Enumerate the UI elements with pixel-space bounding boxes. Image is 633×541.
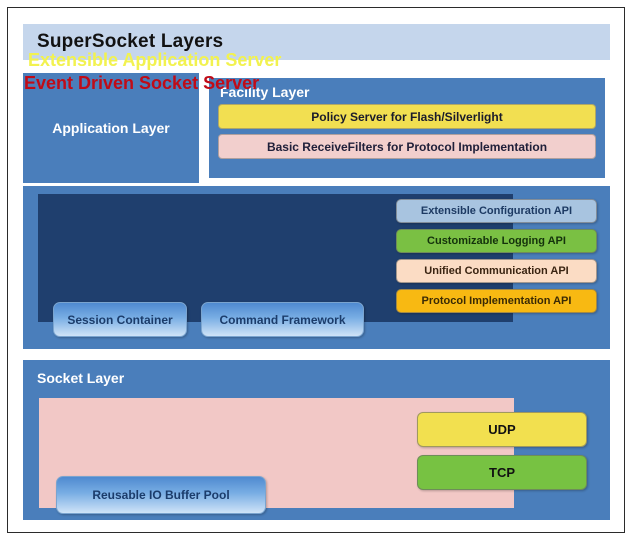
button-reusable-io-buffer-pool[interactable]: Reusable IO Buffer Pool: [56, 476, 266, 514]
api-customizable-logging[interactable]: Customizable Logging API: [396, 229, 597, 253]
api-extensible-configuration[interactable]: Extensible Configuration API: [396, 199, 597, 223]
protocol-chip-tcp[interactable]: TCP: [417, 455, 587, 490]
facility-layer-inner: Facility Layer Policy Server for Flash/S…: [209, 78, 605, 178]
facility-layer-title: Facility Layer: [220, 84, 596, 100]
application-layer-label: Application Layer: [52, 120, 169, 136]
api-unified-communication[interactable]: Unified Communication API: [396, 259, 597, 283]
api-protocol-implementation[interactable]: Protocol Implementation API: [396, 289, 597, 313]
supersocket-layers-diagram: SuperSocket Layers Application Layer Fac…: [0, 0, 633, 541]
facility-layer-block: Facility Layer Policy Server for Flash/S…: [204, 73, 610, 183]
facility-item-policy-server[interactable]: Policy Server for Flash/Silverlight: [218, 104, 596, 129]
button-command-framework[interactable]: Command Framework: [201, 302, 364, 337]
event-driven-socket-server-title: Event Driven Socket Server: [24, 73, 259, 94]
button-session-container[interactable]: Session Container: [53, 302, 187, 337]
facility-item-receive-filters[interactable]: Basic ReceiveFilters for Protocol Implem…: [218, 134, 596, 159]
application-server-title: Extensible Application Server: [28, 50, 281, 71]
protocol-chip-udp[interactable]: UDP: [417, 412, 587, 447]
socket-layer-title: Socket Layer: [37, 370, 124, 386]
